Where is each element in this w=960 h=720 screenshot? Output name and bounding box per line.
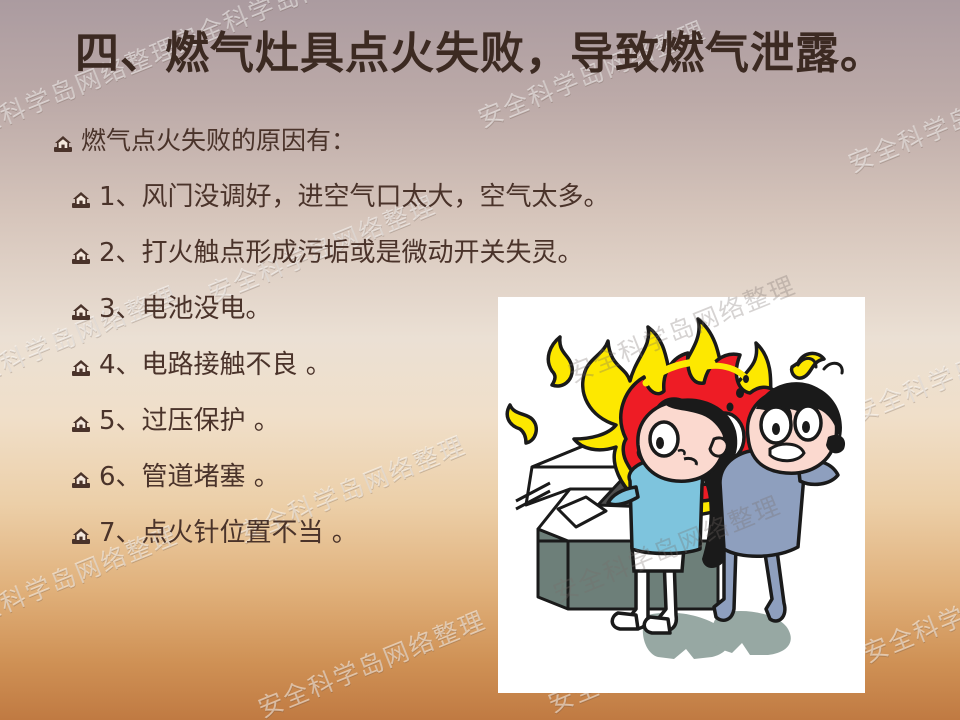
illustration-image	[498, 297, 865, 693]
home-icon	[70, 526, 92, 548]
list-item-label: 1、风门没调好，进空气口太大，空气太多。	[99, 181, 610, 214]
list-item: 7、点火针位置不当 。	[52, 517, 522, 563]
list-item-label: 2、打火触点形成污垢或是微动开关失灵。	[99, 237, 584, 270]
watermark-text: 安全科学岛网络整理	[252, 601, 491, 720]
list-item-label: 5、过压保护 。	[99, 405, 280, 438]
list-item: 5、过压保护 。	[52, 405, 522, 451]
list-item-label: 燃气点火失败的原因有：	[81, 125, 356, 156]
list-item-label: 4、电路接触不良 。	[99, 349, 332, 382]
home-icon	[70, 414, 92, 436]
list-item: 2、打火触点形成污垢或是微动开关失灵。	[52, 237, 522, 283]
list-item: 3、电池没电。	[52, 293, 522, 339]
list-item: 燃气点火失败的原因有：	[52, 125, 522, 171]
list-item-label: 3、电池没电。	[99, 293, 272, 326]
home-icon	[52, 134, 74, 156]
bullet-list: 燃气点火失败的原因有： 1、风门没调好，进空气口太大，空气太多。 2、打火触点形…	[52, 125, 522, 573]
watermark-text: 安全科学岛网络整理	[857, 546, 960, 670]
home-icon	[70, 358, 92, 380]
home-icon	[70, 470, 92, 492]
list-item: 6、管道堵塞 。	[52, 461, 522, 507]
home-icon	[70, 246, 92, 268]
page-title: 四、燃气灶具点火失败，导致燃气泄露。	[0, 30, 960, 78]
home-icon	[70, 190, 92, 212]
home-icon	[70, 302, 92, 324]
list-item: 4、电路接触不良 。	[52, 349, 522, 395]
list-item-label: 7、点火针位置不当 。	[99, 517, 358, 550]
list-item: 1、风门没调好，进空气口太大，空气太多。	[52, 181, 522, 227]
page-title-text: 四、燃气灶具点火失败，导致燃气泄露。	[75, 30, 885, 78]
list-item-label: 6、管道堵塞 。	[99, 461, 280, 494]
